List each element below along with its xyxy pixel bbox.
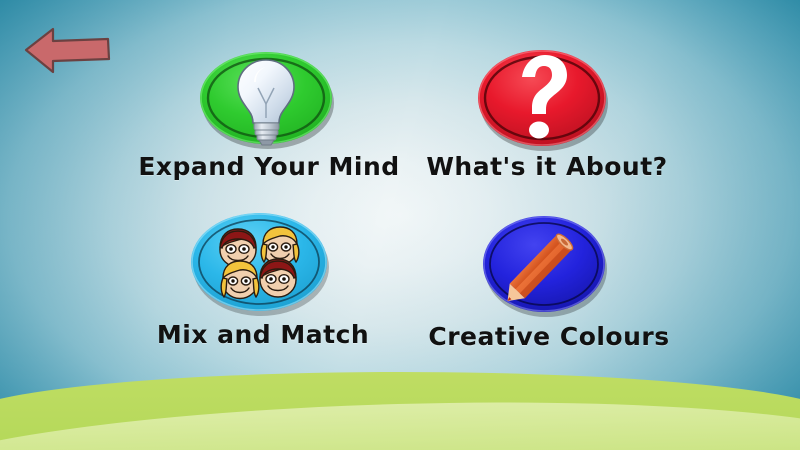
menu-item-whats-it-about[interactable]: What's it About?	[474, 46, 620, 152]
menu-item-creative-colours[interactable]: Creative Colours	[482, 212, 616, 318]
menu-item-label: Creative Colours	[428, 322, 669, 351]
menu-item-label: Mix and Match	[157, 320, 369, 349]
menu-item-label: What's it About?	[426, 152, 667, 181]
creative-colours-button[interactable]	[482, 212, 616, 318]
app-screen: Expand Your Mind What's it About?	[0, 0, 800, 450]
back-button[interactable]	[22, 24, 114, 74]
menu-item-mix-and-match[interactable]: Mix and Match	[188, 210, 338, 318]
whats-it-about-button[interactable]	[474, 46, 620, 152]
arrow-left-icon	[22, 24, 114, 74]
mix-and-match-button[interactable]	[188, 210, 338, 318]
expand-your-mind-button[interactable]	[196, 48, 342, 152]
menu-item-expand-your-mind[interactable]: Expand Your Mind	[196, 48, 342, 152]
menu-item-label: Expand Your Mind	[138, 152, 399, 181]
